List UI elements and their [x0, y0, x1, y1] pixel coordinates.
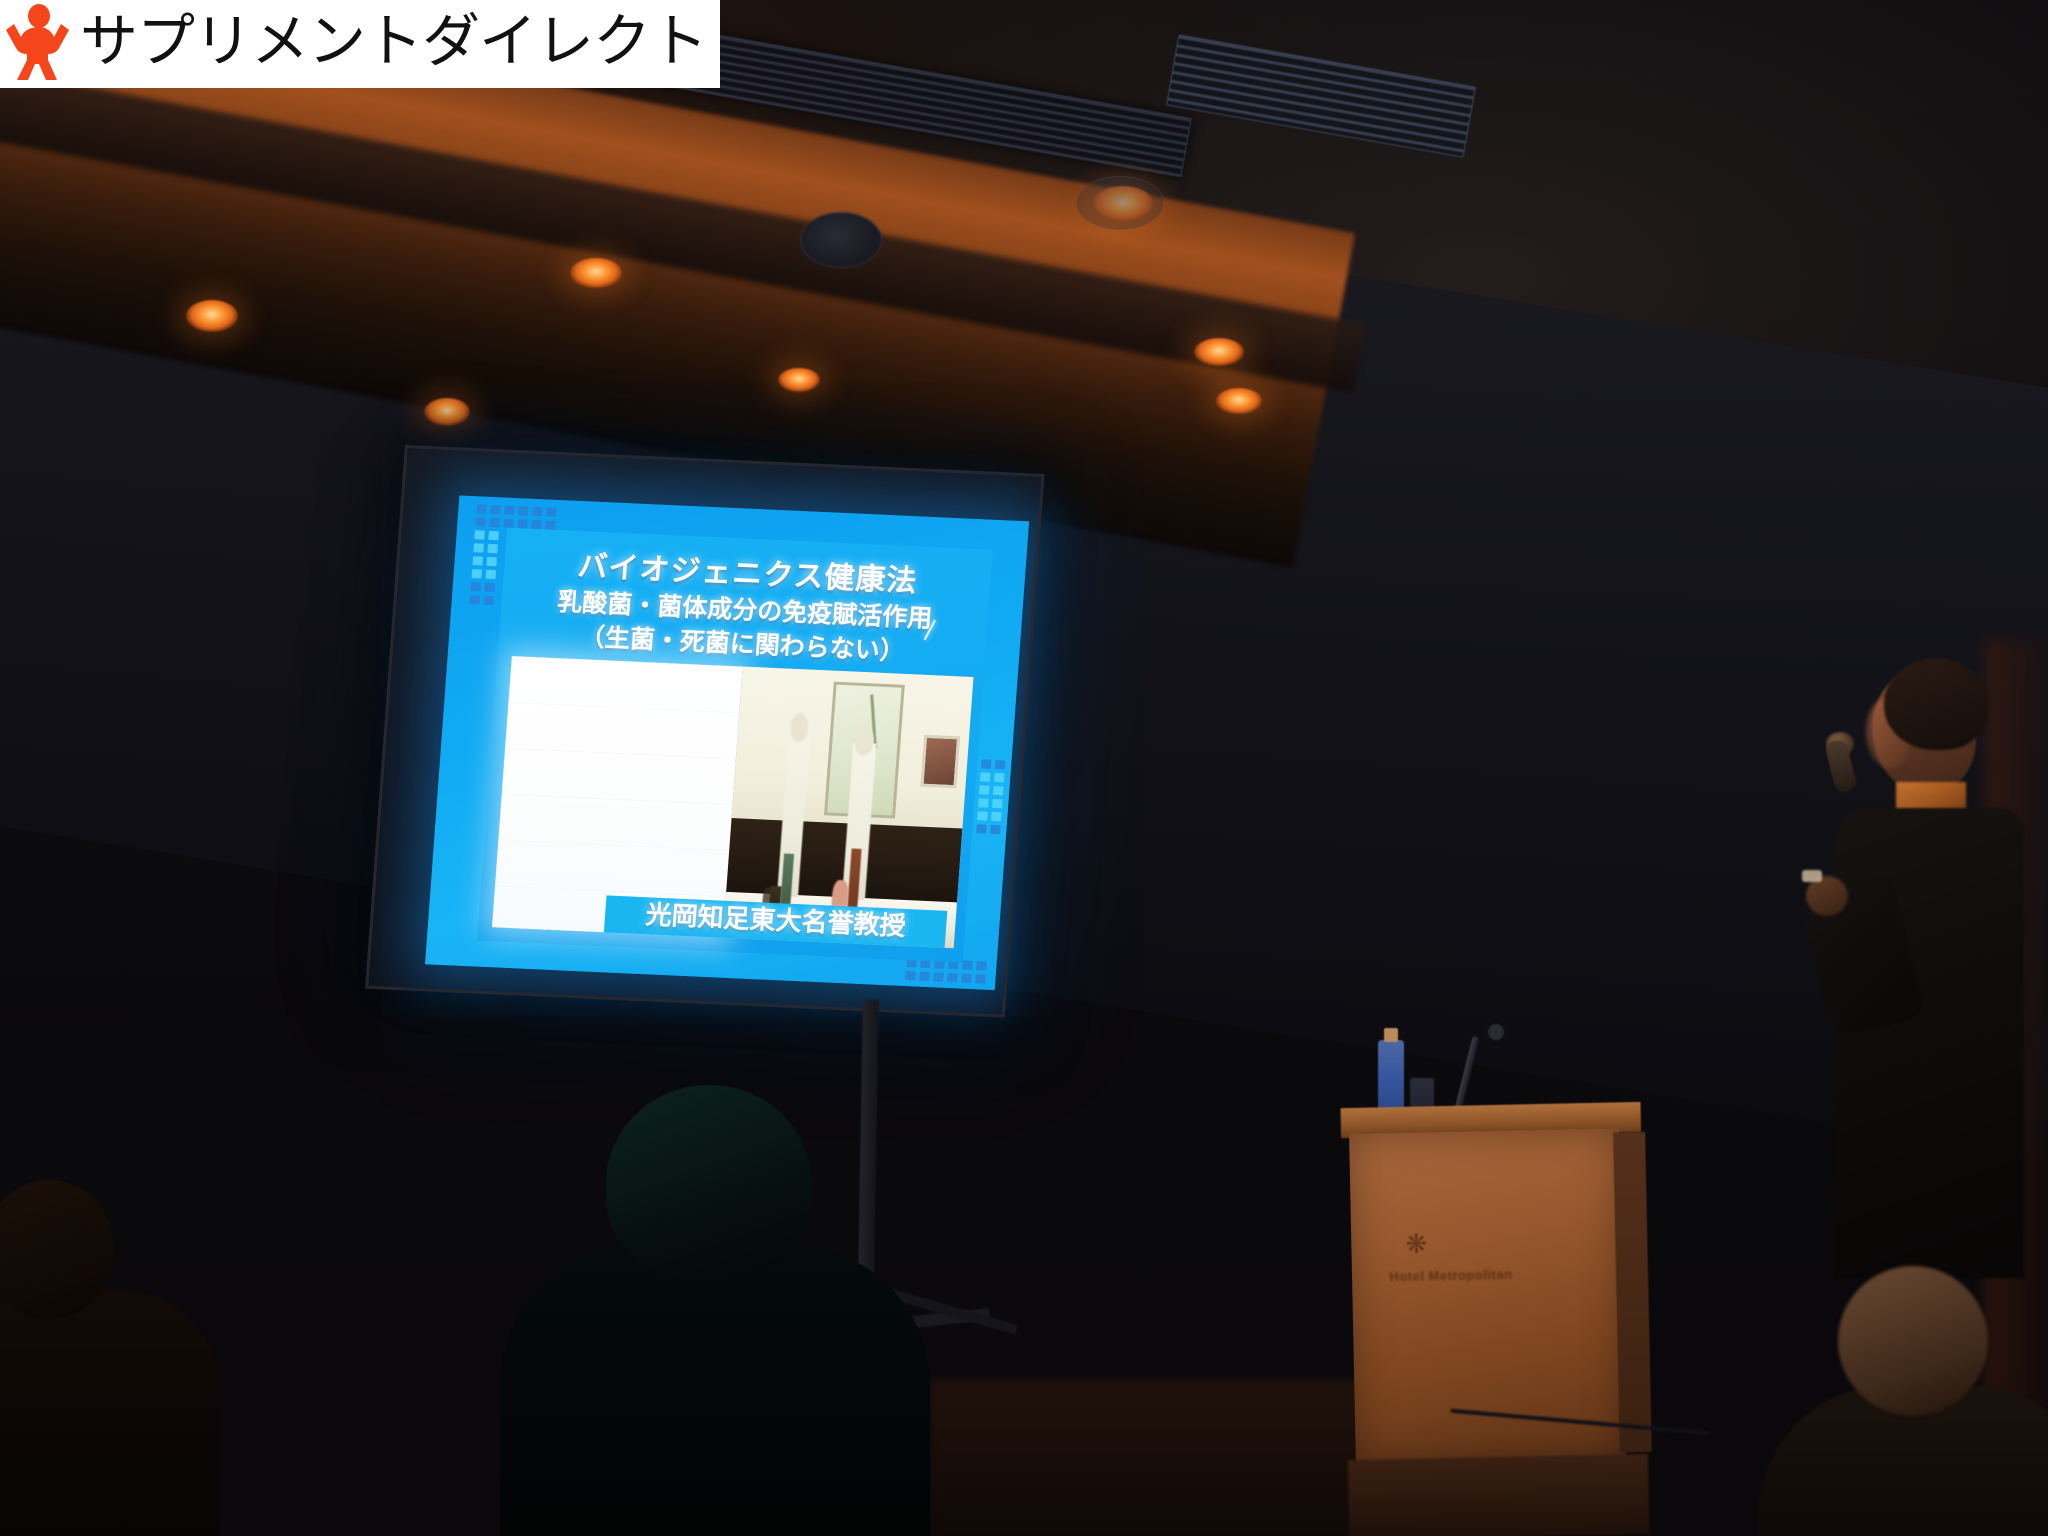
dotted-square-grid-icon-top — [475, 504, 557, 530]
recessed-downlight-icon — [1216, 388, 1262, 414]
presenter-hair — [1884, 658, 1988, 750]
projection-screen: バイオジェニクス健康法 乳酸菌・菌体成分の免疫賦活作用 （生菌・死菌に関わらない… — [365, 445, 1045, 1018]
audience-shoulders — [500, 1245, 930, 1536]
hotel-crest-icon: ❋ — [1403, 1228, 1430, 1259]
slide-content-panel: バイオジェニクス健康法 乳酸菌・菌体成分の免疫賦活作用 （生菌・死菌に関わらない… — [477, 528, 993, 963]
lectern-base — [1348, 1454, 1650, 1536]
running-person-icon — [6, 4, 72, 80]
brand-name: サプリメントダイレクト — [80, 11, 707, 73]
audience-head — [1838, 1266, 1988, 1416]
ceiling-speaker-icon — [800, 212, 882, 268]
recessed-downlight-icon — [570, 258, 622, 288]
recessed-downlight-icon — [1194, 338, 1244, 366]
bottle-cap — [1384, 1028, 1398, 1042]
presentation-remote-icon — [1802, 870, 1822, 882]
photograph-canvas: バイオジェニクス健康法 乳酸菌・菌体成分の免疫賦活作用 （生菌・死菌に関わらない… — [0, 0, 2048, 1536]
lectern-name-plate: Hotel Metropolitan — [1386, 1267, 1516, 1285]
brand-watermark: サプリメントダイレクト — [0, 0, 720, 88]
audience-member-right — [1758, 1256, 2048, 1536]
downlight-trim-ring — [1076, 176, 1164, 230]
audience-member-center — [560, 1085, 860, 1536]
presenter-hand — [1806, 876, 1848, 916]
recessed-downlight-icon — [186, 300, 238, 332]
recessed-downlight-icon — [424, 398, 470, 426]
audience-shoulders — [0, 1290, 220, 1536]
lectern-side-panel — [1613, 1132, 1652, 1453]
audience-head — [606, 1085, 812, 1281]
audience-member-left — [0, 1180, 190, 1536]
recessed-downlight-icon — [778, 368, 820, 392]
lectern: ❋ Hotel Metropolitan — [1341, 1102, 1650, 1536]
projected-slide: バイオジェニクス健康法 乳酸菌・菌体成分の免疫賦活作用 （生菌・死菌に関わらない… — [425, 496, 1029, 991]
gooseneck-microphone-capsule — [1488, 1024, 1504, 1040]
